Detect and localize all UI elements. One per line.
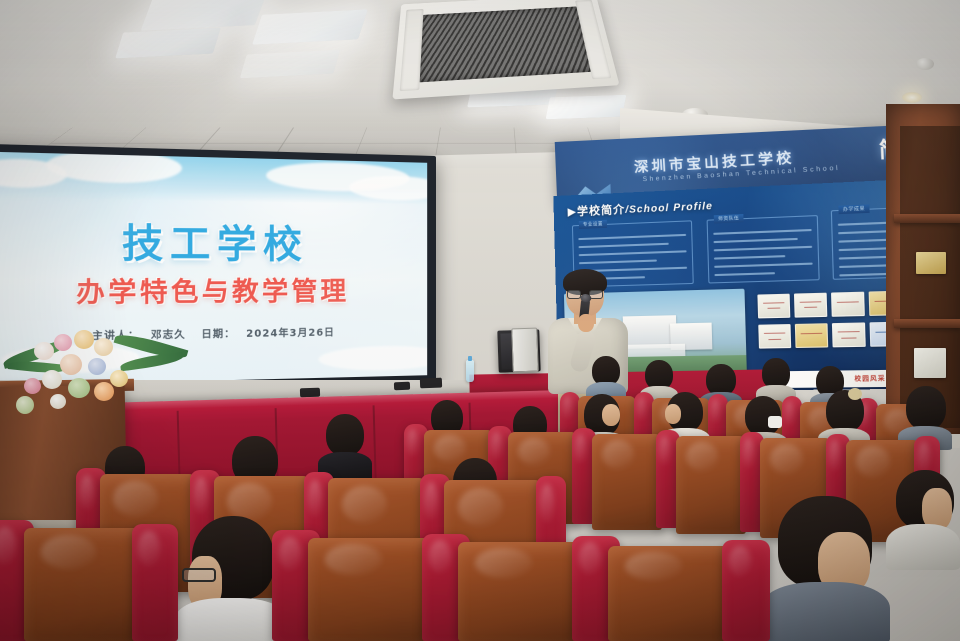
date-value: 2024年3月26日: [246, 327, 335, 340]
award-plaque: [832, 322, 866, 347]
ceiling-light-panel: [252, 9, 368, 44]
award-plaque: [795, 323, 828, 348]
flower-arrangement: [2, 326, 192, 446]
display-cabinet: [886, 104, 960, 434]
seat: [592, 434, 662, 530]
poster-heading: ▶学校简介/School Profile: [567, 197, 713, 220]
cabinet-compartment: [900, 126, 960, 214]
audience-person-foreground: [760, 496, 890, 641]
cabinet-certificate: [914, 348, 946, 378]
av-equipment: [300, 388, 320, 398]
ac-grille: [418, 6, 593, 82]
smoke-detector-icon: [916, 58, 934, 70]
date-label: 日期：: [201, 329, 235, 341]
seat: [676, 436, 746, 534]
ceiling-light-panel: [115, 28, 221, 59]
slide-subtitle: 办学特色与教学管理: [0, 271, 427, 311]
seat: [308, 538, 432, 641]
seat: [458, 542, 582, 641]
poster-strip-label: 校园风采: [854, 373, 885, 383]
face-mask-icon: [768, 416, 782, 428]
ceiling-light-panel: [546, 95, 627, 120]
award-plaque: [831, 292, 865, 317]
award-plaque: [794, 293, 827, 318]
seat: [24, 528, 144, 641]
audience-person-foreground: [886, 470, 960, 590]
cloud-decoration: [318, 345, 427, 372]
audience-person: [318, 414, 372, 478]
poster-heading-cn: ▶学校简介: [567, 203, 625, 219]
speaker-hand: [578, 314, 594, 332]
poster-panel-caption: 师资队伍: [714, 214, 744, 224]
poster-panel-caption: 办学成果: [838, 204, 869, 214]
glasses-icon: [182, 568, 216, 582]
audience-person-foreground: [176, 516, 286, 641]
pc-tower: [511, 328, 539, 373]
award-plaque: [758, 324, 791, 349]
seat: [722, 540, 770, 641]
seat: [132, 524, 178, 641]
av-equipment: [420, 378, 442, 389]
poster-panel-caption: 专业设置: [579, 220, 607, 229]
ceiling-ac-unit-icon: [392, 0, 619, 99]
cabinet-shelf: [894, 319, 960, 328]
cabinet-shelf: [894, 214, 960, 223]
poster-heading-en: /School Profile: [625, 201, 713, 216]
lecture-hall-photo: 技工学校 办学特色与教学管理 主讲人：邓志久 日期：2024年3月26日 深圳市…: [0, 0, 960, 641]
water-bottle: [466, 360, 474, 382]
seat: [608, 546, 732, 641]
cabinet-award-plaque: [916, 252, 946, 274]
award-plaque: [757, 294, 790, 319]
hair-clip-icon: [848, 388, 862, 400]
av-equipment: [394, 382, 410, 391]
downlight-icon: [902, 92, 922, 103]
slide-title: 技工学校: [0, 209, 427, 269]
poster-text-panel: 师资队伍: [707, 215, 820, 283]
